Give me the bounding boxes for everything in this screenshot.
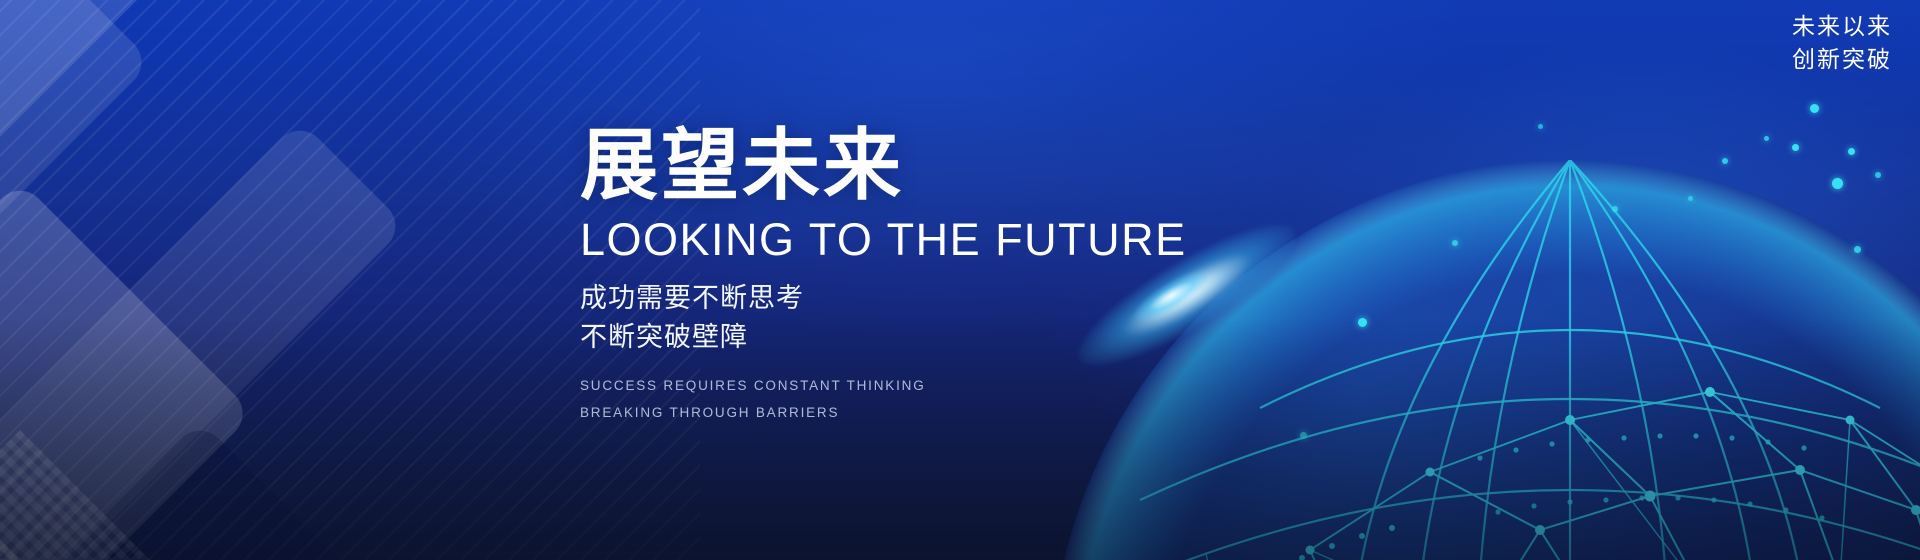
subhead-english-line2: BREAKING THROUGH BARRIERS	[580, 399, 1340, 426]
banner-root: 未来以来 创新突破 展望未来 LOOKING TO THE FUTURE 成功需…	[0, 0, 1920, 560]
subhead-chinese-line2: 不断突破壁障	[580, 318, 1340, 357]
copy-block: 展望未来 LOOKING TO THE FUTURE 成功需要不断思考 不断突破…	[580, 126, 1340, 426]
headline-english: LOOKING TO THE FUTURE	[580, 216, 1340, 263]
corner-note: 未来以来 创新突破	[1792, 10, 1892, 77]
corner-note-line2: 创新突破	[1792, 43, 1892, 76]
subhead-chinese-line1: 成功需要不断思考	[580, 279, 1340, 318]
headline-chinese: 展望未来	[580, 126, 1340, 204]
subhead-english-block: SUCCESS REQUIRES CONSTANT THINKING BREAK…	[580, 372, 1340, 426]
corner-note-line1: 未来以来	[1792, 10, 1892, 43]
subhead-english-line1: SUCCESS REQUIRES CONSTANT THINKING	[580, 372, 1340, 399]
